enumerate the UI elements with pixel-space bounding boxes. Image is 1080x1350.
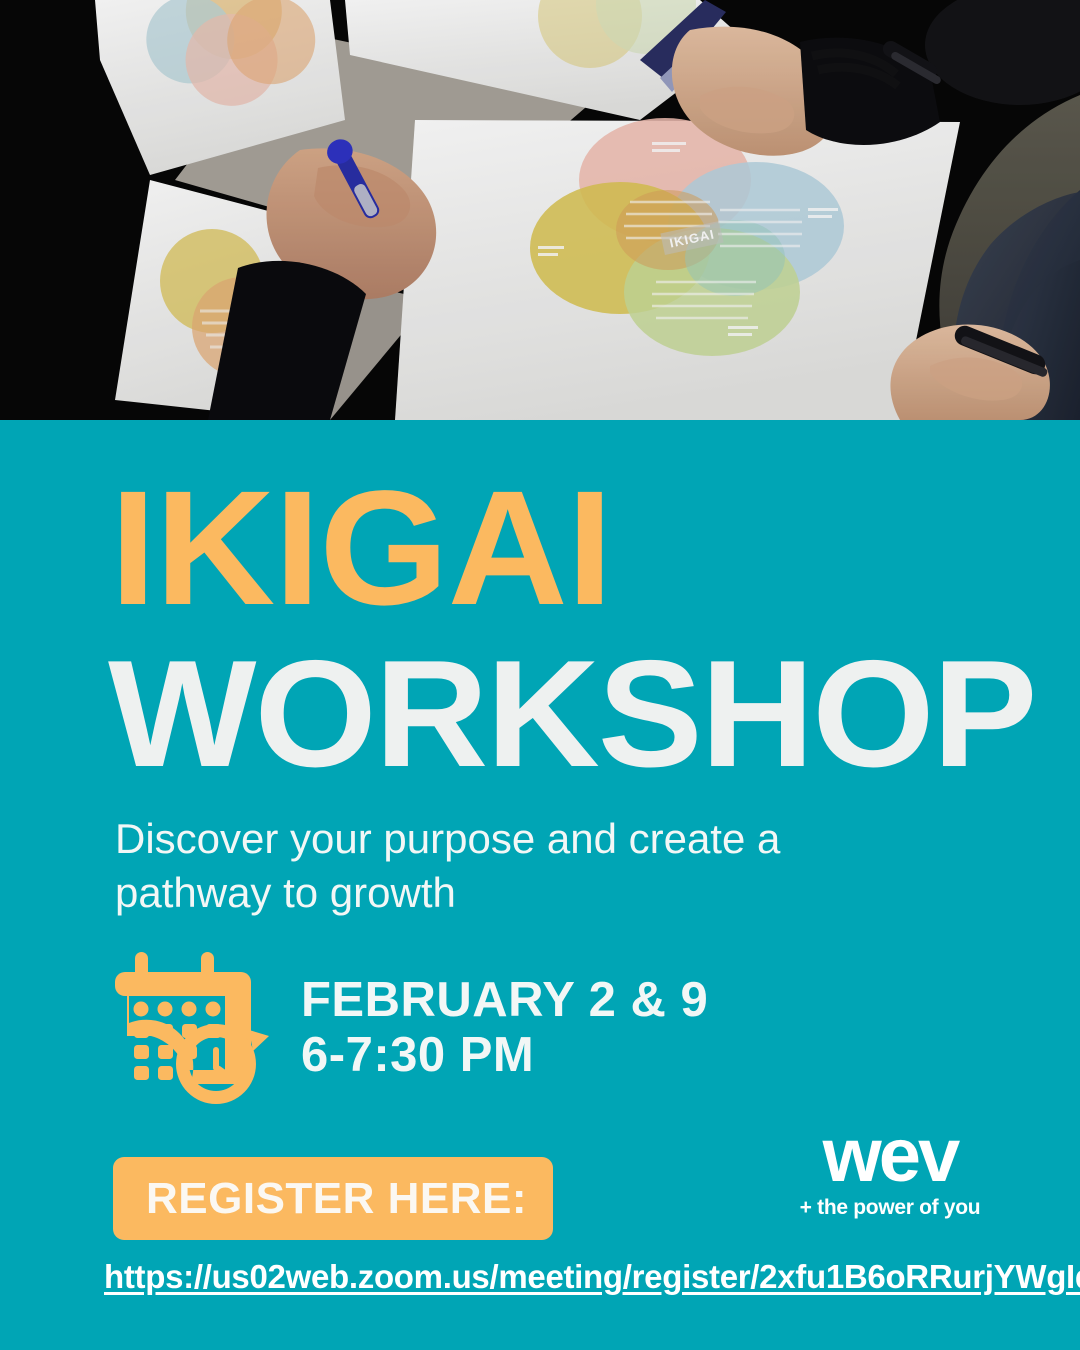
wev-tagline: + the power of you xyxy=(795,1196,985,1220)
wev-logo: wev + the power of you xyxy=(795,1122,985,1220)
headline-workshop: WORKSHOP xyxy=(108,638,1035,790)
hero-photo: IKIGAI xyxy=(0,0,1080,420)
schedule-time: 6-7:30 PM xyxy=(301,1028,708,1083)
wev-wordmark: wev xyxy=(795,1122,985,1190)
poster: IKIGAI xyxy=(0,0,1080,1350)
schedule-date: FEBRUARY 2 & 9 xyxy=(301,973,708,1028)
register-button-label: REGISTER HERE: xyxy=(146,1174,527,1224)
schedule-row: FEBRUARY 2 & 9 6-7:30 PM xyxy=(105,952,708,1104)
schedule-text: FEBRUARY 2 & 9 6-7:30 PM xyxy=(301,973,708,1083)
subtitle: Discover your purpose and create a pathw… xyxy=(115,812,915,920)
headline-ikigai: IKIGAI xyxy=(110,466,612,629)
calendar-clock-icon xyxy=(105,952,273,1104)
register-here-button[interactable]: REGISTER HERE: xyxy=(113,1157,553,1240)
registration-url[interactable]: https://us02web.zoom.us/meeting/register… xyxy=(104,1258,1080,1296)
